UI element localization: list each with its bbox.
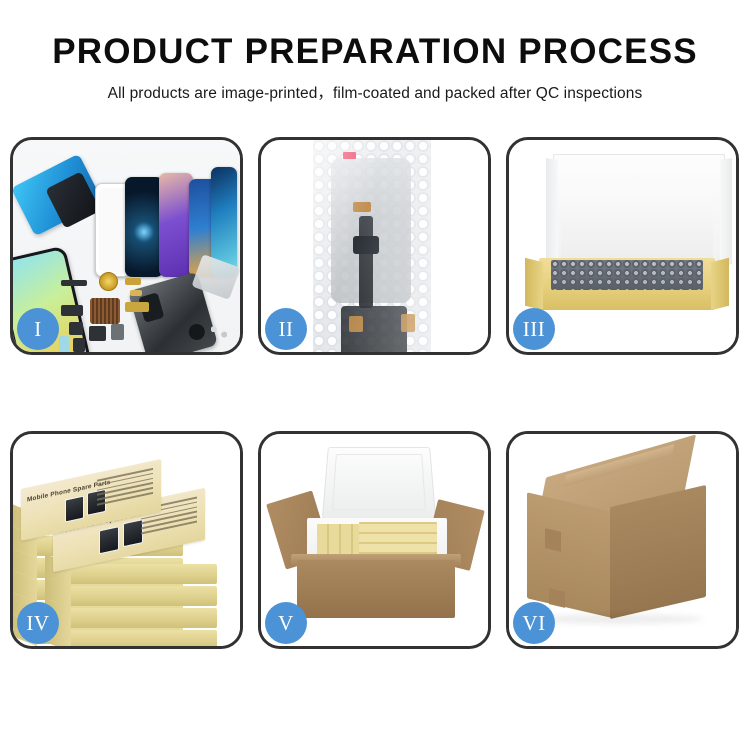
screen-purple-icon	[159, 173, 193, 277]
process-panel-1: I	[10, 137, 243, 355]
carton-tab-icon	[549, 588, 565, 608]
panel-badge-1: I	[17, 308, 59, 350]
process-panel-4: Mobile Phone Spare Parts Mobile Phone Sp…	[10, 431, 243, 649]
carton-tab-icon	[545, 528, 561, 552]
part-strip-icon	[61, 280, 87, 286]
foam-lid-icon	[322, 447, 436, 519]
camera-module-icon	[89, 326, 106, 341]
page-header: PRODUCT PREPARATION PROCESS All products…	[0, 0, 750, 103]
bubble-wrapped-item-icon	[551, 260, 703, 290]
screws-icon	[206, 322, 232, 340]
stacked-box-icon	[67, 608, 217, 628]
panel-badge-3: III	[513, 308, 555, 350]
foam-sheet-icon	[561, 192, 713, 264]
stacked-box-icon	[67, 586, 217, 606]
part-gold-small-icon	[130, 290, 142, 296]
panel-badge-4: IV	[17, 602, 59, 644]
process-panel-3: III	[506, 137, 739, 355]
part-gold-icon	[125, 278, 141, 285]
page-subtitle: All products are image-printed，film-coat…	[0, 81, 750, 103]
panel-badge-6: VI	[513, 602, 555, 644]
chip-array-icon	[90, 298, 120, 324]
battery-strip-icon	[59, 336, 69, 352]
carton-left-face	[527, 492, 611, 617]
process-panel-grid: I II III	[10, 137, 740, 649]
plastic-sheen	[313, 140, 431, 352]
speaker-coil-icon	[99, 272, 118, 291]
stacked-box-icon	[67, 630, 217, 646]
part-module-icon	[61, 305, 83, 316]
process-panel-5: V	[258, 431, 491, 649]
process-panel-6: VI	[506, 431, 739, 649]
button-part-icon	[111, 324, 124, 340]
box-phone-image-icon	[123, 519, 143, 547]
screen-blue-icon	[125, 177, 163, 277]
part-square-icon	[69, 322, 83, 335]
carton-shadow	[533, 614, 703, 624]
panel-badge-5: V	[265, 602, 307, 644]
box-phone-image-icon	[65, 495, 84, 522]
connector-icon	[73, 338, 85, 352]
page-title: PRODUCT PREPARATION PROCESS	[0, 34, 750, 69]
process-panel-2: II	[258, 137, 491, 355]
bubble-wrap-icon	[313, 140, 431, 352]
carton-right-face	[610, 485, 706, 619]
box-phone-image-icon	[99, 526, 119, 554]
stacked-box-icon	[67, 564, 217, 584]
carton-front-icon	[297, 560, 455, 618]
box-spec-lines	[97, 468, 153, 514]
panel-badge-2: II	[265, 308, 307, 350]
flex-cable-icon	[125, 302, 149, 312]
